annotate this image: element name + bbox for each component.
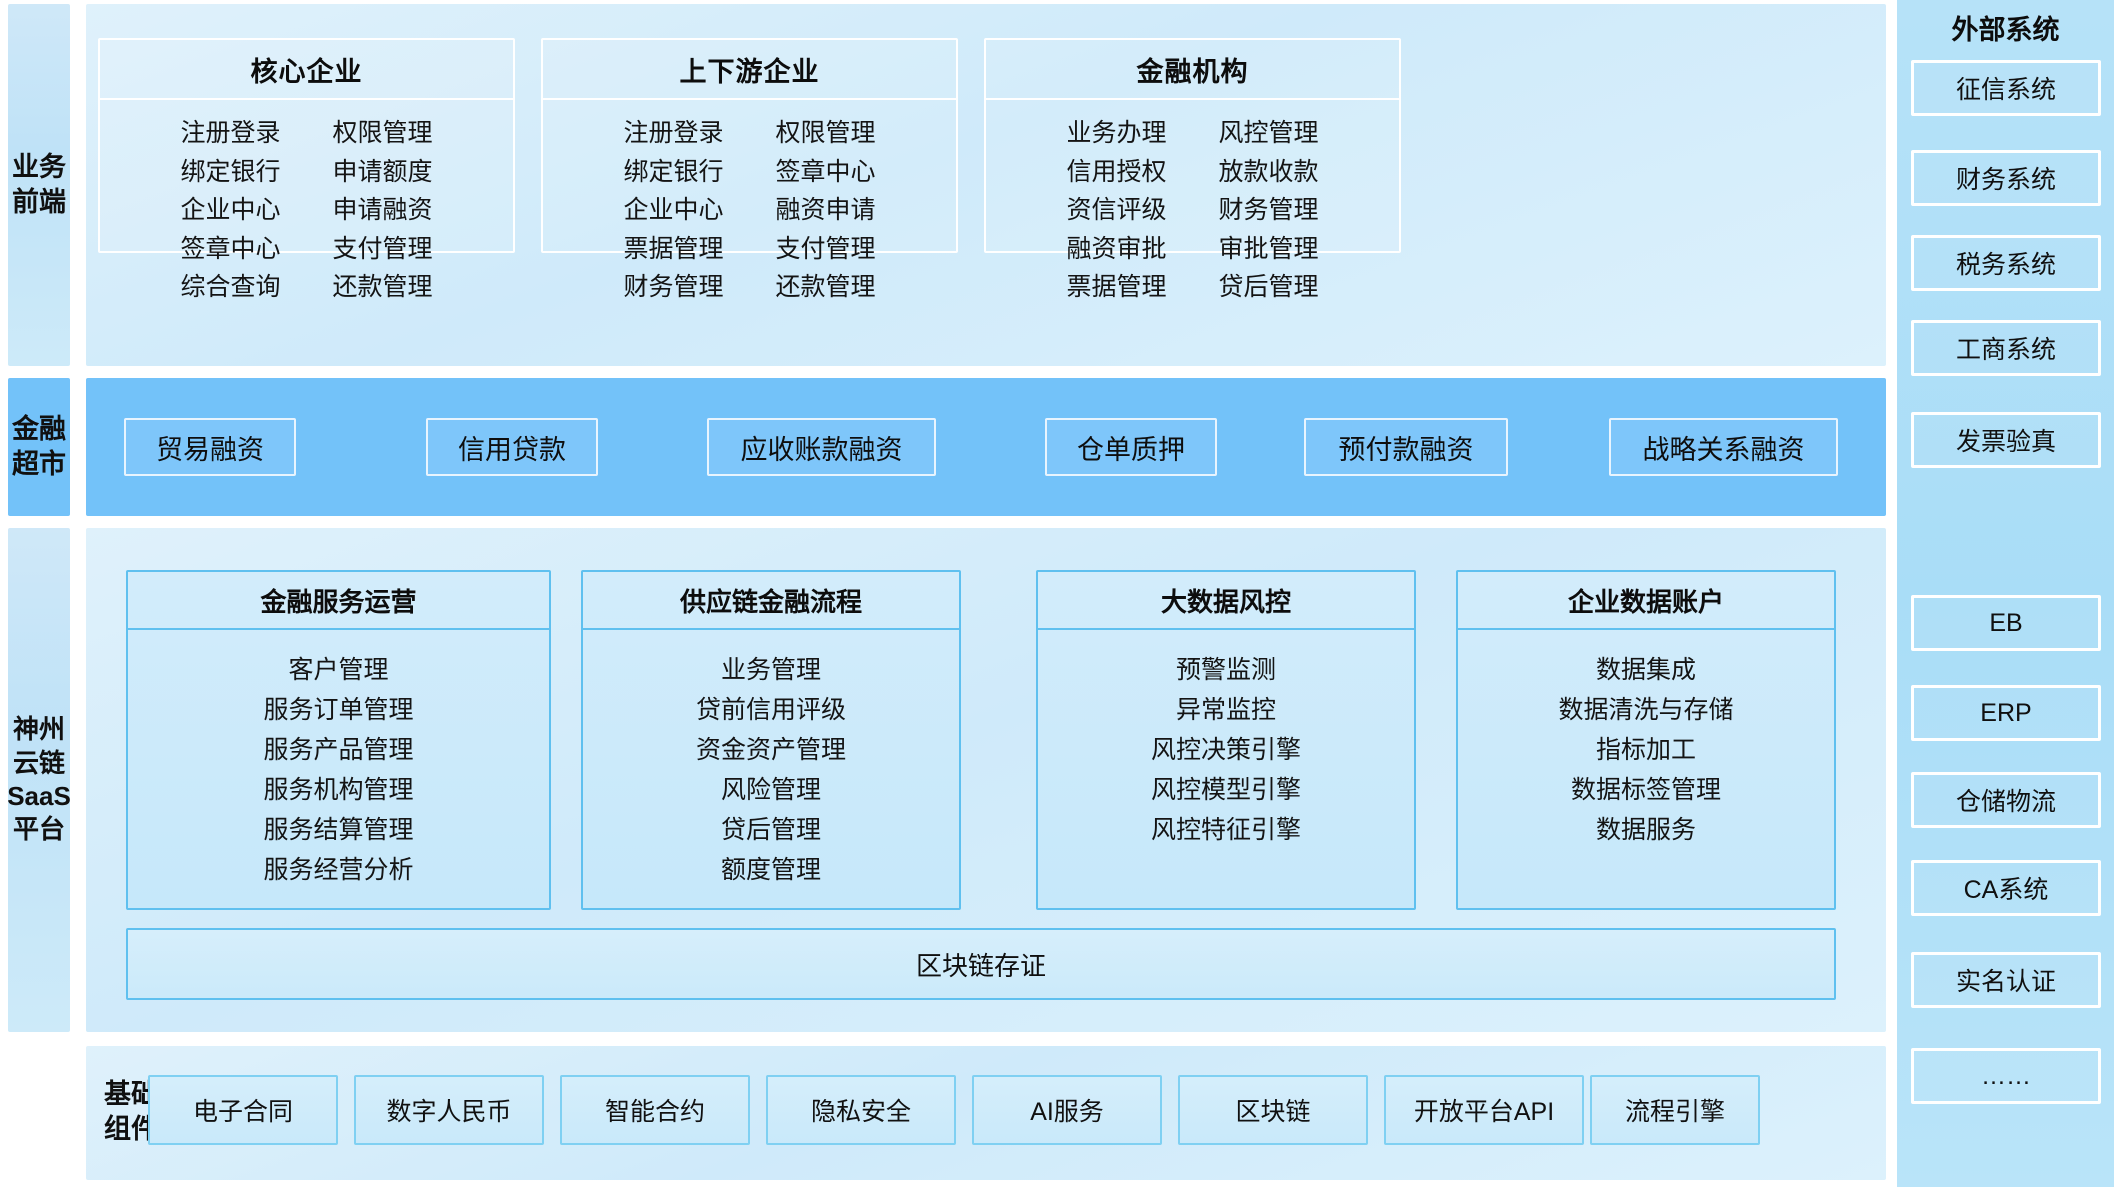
saas-module-item[interactable]: 服务结算管理 (263, 812, 413, 848)
frontend-card-core-enterprise-title: 核心企业 (100, 40, 513, 100)
supermarket-chip-prepayment-finance[interactable]: 预付款融资 (1304, 418, 1508, 476)
saas-module-enterprise-data-account-list: 数据集成 数据清洗与存储 指标加工 数据标签管理 数据服务 (1458, 630, 1834, 848)
frontend-card-upstream-downstream-body: 注册登录 绑定银行 企业中心 票据管理 财务管理 权限管理 签章中心 融资申请 … (543, 100, 956, 306)
external-system-business-registration[interactable]: 工商系统 (1911, 320, 2101, 376)
frontend-item[interactable]: 资信评级 (1066, 193, 1166, 229)
saas-platform-panel: 金融服务运营 客户管理 服务订单管理 服务产品管理 服务机构管理 服务结算管理 … (86, 528, 1886, 1032)
frontend-item[interactable]: 注册登录 (623, 116, 723, 152)
base-component-ai-service[interactable]: AI服务 (972, 1075, 1162, 1145)
base-component-smart-contract[interactable]: 智能合约 (560, 1075, 750, 1145)
row-label-saas-platform-line2: 云链 (7, 747, 71, 780)
saas-module-supply-chain-finance-process-title: 供应链金融流程 (583, 572, 959, 630)
saas-module-enterprise-data-account-title: 企业数据账户 (1458, 572, 1834, 630)
frontend-item[interactable]: 票据管理 (623, 232, 723, 268)
frontend-item[interactable]: 签章中心 (180, 232, 280, 268)
frontend-item[interactable]: 权限管理 (776, 116, 876, 152)
external-system-ca[interactable]: CA系统 (1911, 860, 2101, 916)
base-components-panel: 基础 组件 电子合同 数字人民币 智能合约 隐私安全 AI服务 区块链 开放平台… (86, 1046, 1886, 1180)
frontend-item[interactable]: 企业中心 (180, 193, 280, 229)
saas-blockchain-evidence-bar[interactable]: 区块链存证 (126, 928, 1836, 1000)
frontend-item[interactable]: 还款管理 (776, 270, 876, 306)
external-system-warehouse-logistics[interactable]: 仓储物流 (1911, 772, 2101, 828)
supermarket-chip-strategic-relation-finance[interactable]: 战略关系融资 (1609, 418, 1838, 476)
saas-module-bigdata-risk-control-list: 预警监测 异常监控 风控决策引擎 风控模型引擎 风控特征引擎 (1038, 630, 1414, 848)
frontend-item[interactable]: 申请额度 (333, 155, 433, 191)
frontend-item[interactable]: 贷后管理 (1219, 270, 1319, 306)
saas-module-item[interactable]: 风险管理 (721, 772, 821, 808)
architecture-diagram: 业务 前端 核心企业 注册登录 绑定银行 企业中心 签章中心 综合查询 权限管理… (0, 0, 2114, 1187)
saas-module-item[interactable]: 数据服务 (1596, 812, 1696, 848)
frontend-card-financial-institution-col1: 业务办理 信用授权 资信评级 融资审批 票据管理 (1066, 116, 1166, 306)
frontend-item[interactable]: 票据管理 (1066, 270, 1166, 306)
external-system-eb[interactable]: EB (1911, 595, 2101, 651)
saas-module-supply-chain-finance-process-list: 业务管理 贷前信用评级 资金资产管理 风险管理 贷后管理 额度管理 (583, 630, 959, 888)
saas-module-item[interactable]: 数据标签管理 (1571, 772, 1721, 808)
external-system-invoice-verification[interactable]: 发票验真 (1911, 412, 2101, 468)
frontend-item[interactable]: 融资审批 (1066, 232, 1166, 268)
row-label-business-frontend-line1: 业务 (12, 150, 66, 185)
row-label-saas-platform-line3: SaaS (7, 780, 71, 813)
frontend-item[interactable]: 支付管理 (333, 232, 433, 268)
supermarket-chip-receivables-finance[interactable]: 应收账款融资 (707, 418, 936, 476)
row-label-business-frontend-line2: 前端 (12, 185, 66, 220)
frontend-card-upstream-downstream-col1: 注册登录 绑定银行 企业中心 票据管理 财务管理 (623, 116, 723, 306)
external-system-tax[interactable]: 税务系统 (1911, 235, 2101, 291)
saas-module-item[interactable]: 贷前信用评级 (696, 692, 846, 728)
frontend-card-financial-institution[interactable]: 金融机构 业务办理 信用授权 资信评级 融资审批 票据管理 风控管理 放款收款 … (984, 38, 1401, 253)
base-component-privacy-security[interactable]: 隐私安全 (766, 1075, 956, 1145)
saas-module-item[interactable]: 客户管理 (288, 652, 388, 688)
saas-module-item[interactable]: 服务机构管理 (263, 772, 413, 808)
base-component-open-platform-api[interactable]: 开放平台API (1384, 1075, 1584, 1145)
frontend-item[interactable]: 融资申请 (776, 193, 876, 229)
frontend-item[interactable]: 注册登录 (180, 116, 280, 152)
saas-module-financial-service-operation-title: 金融服务运营 (128, 572, 549, 630)
saas-module-item[interactable]: 数据集成 (1596, 652, 1696, 688)
row-label-finance-supermarket-line2: 超市 (12, 447, 66, 482)
external-systems-panel: 外部系统 征信系统 财务系统 税务系统 工商系统 发票验真 EB ERP 仓储物… (1897, 0, 2114, 1187)
saas-module-bigdata-risk-control[interactable]: 大数据风控 预警监测 异常监控 风控决策引擎 风控模型引擎 风控特征引擎 (1036, 570, 1416, 910)
saas-module-item[interactable]: 服务产品管理 (263, 732, 413, 768)
external-system-credit-reporting[interactable]: 征信系统 (1911, 60, 2101, 116)
external-system-erp[interactable]: ERP (1911, 685, 2101, 741)
frontend-item[interactable]: 申请融资 (333, 193, 433, 229)
frontend-card-financial-institution-title: 金融机构 (986, 40, 1399, 100)
frontend-item[interactable]: 企业中心 (623, 193, 723, 229)
frontend-item[interactable]: 支付管理 (776, 232, 876, 268)
saas-module-item[interactable]: 风控模型引擎 (1151, 772, 1301, 808)
saas-module-item[interactable]: 服务订单管理 (263, 692, 413, 728)
saas-module-item[interactable]: 服务经营分析 (263, 852, 413, 888)
external-system-finance[interactable]: 财务系统 (1911, 150, 2101, 206)
row-label-saas-platform-line1: 神州 (7, 713, 71, 746)
frontend-card-upstream-downstream[interactable]: 上下游企业 注册登录 绑定银行 企业中心 票据管理 财务管理 权限管理 签章中心… (541, 38, 958, 253)
row-label-saas-platform: 神州 云链 SaaS 平台 (8, 528, 70, 1032)
base-component-blockchain[interactable]: 区块链 (1178, 1075, 1368, 1145)
supermarket-chip-warehouse-receipt-pledge[interactable]: 仓单质押 (1045, 418, 1217, 476)
saas-module-item[interactable]: 业务管理 (721, 652, 821, 688)
supermarket-chip-credit-loan[interactable]: 信用贷款 (426, 418, 598, 476)
frontend-item[interactable]: 业务办理 (1066, 116, 1166, 152)
frontend-item[interactable]: 综合查询 (180, 270, 280, 306)
saas-module-item[interactable]: 额度管理 (721, 852, 821, 888)
frontend-card-core-enterprise-body: 注册登录 绑定银行 企业中心 签章中心 综合查询 权限管理 申请额度 申请融资 … (100, 100, 513, 306)
external-systems-title: 外部系统 (1897, 8, 2114, 47)
frontend-item[interactable]: 财务管理 (1219, 193, 1319, 229)
saas-module-financial-service-operation[interactable]: 金融服务运营 客户管理 服务订单管理 服务产品管理 服务机构管理 服务结算管理 … (126, 570, 551, 910)
saas-module-item[interactable]: 指标加工 (1596, 732, 1696, 768)
frontend-item[interactable]: 财务管理 (623, 270, 723, 306)
saas-module-supply-chain-finance-process[interactable]: 供应链金融流程 业务管理 贷前信用评级 资金资产管理 风险管理 贷后管理 额度管… (581, 570, 961, 910)
saas-module-item[interactable]: 预警监测 (1176, 652, 1276, 688)
frontend-card-financial-institution-body: 业务办理 信用授权 资信评级 融资审批 票据管理 风控管理 放款收款 财务管理 … (986, 100, 1399, 306)
external-system-more[interactable]: …… (1911, 1048, 2101, 1104)
frontend-item[interactable]: 权限管理 (333, 116, 433, 152)
frontend-card-core-enterprise[interactable]: 核心企业 注册登录 绑定银行 企业中心 签章中心 综合查询 权限管理 申请额度 … (98, 38, 515, 253)
frontend-card-upstream-downstream-col2: 权限管理 签章中心 融资申请 支付管理 还款管理 (776, 116, 876, 306)
frontend-card-upstream-downstream-title: 上下游企业 (543, 40, 956, 100)
row-label-business-frontend: 业务 前端 (8, 4, 70, 366)
frontend-item[interactable]: 风控管理 (1219, 116, 1319, 152)
frontend-item[interactable]: 还款管理 (333, 270, 433, 306)
saas-module-item[interactable]: 资金资产管理 (696, 732, 846, 768)
saas-module-item[interactable]: 风控特征引擎 (1151, 812, 1301, 848)
saas-module-financial-service-operation-list: 客户管理 服务订单管理 服务产品管理 服务机构管理 服务结算管理 服务经营分析 (128, 630, 549, 888)
frontend-item[interactable]: 放款收款 (1219, 155, 1319, 191)
frontend-item[interactable]: 绑定银行 (623, 155, 723, 191)
row-label-saas-platform-line4: 平台 (7, 813, 71, 846)
supermarket-chip-trade-finance[interactable]: 贸易融资 (124, 418, 296, 476)
saas-module-item[interactable]: 异常监控 (1176, 692, 1276, 728)
saas-module-bigdata-risk-control-title: 大数据风控 (1038, 572, 1414, 630)
frontend-card-core-enterprise-col2: 权限管理 申请额度 申请融资 支付管理 还款管理 (333, 116, 433, 306)
frontend-item[interactable]: 审批管理 (1219, 232, 1319, 268)
saas-module-item[interactable]: 数据清洗与存储 (1558, 692, 1733, 728)
saas-module-item[interactable]: 风控决策引擎 (1151, 732, 1301, 768)
row-label-finance-supermarket: 金融 超市 (8, 378, 70, 516)
frontend-item[interactable]: 绑定银行 (180, 155, 280, 191)
frontend-item[interactable]: 信用授权 (1066, 155, 1166, 191)
saas-module-item[interactable]: 贷后管理 (721, 812, 821, 848)
business-frontend-panel: 核心企业 注册登录 绑定银行 企业中心 签章中心 综合查询 权限管理 申请额度 … (86, 4, 1886, 366)
base-component-electronic-contract[interactable]: 电子合同 (148, 1075, 338, 1145)
base-component-digital-rmb[interactable]: 数字人民币 (354, 1075, 544, 1145)
frontend-card-financial-institution-col2: 风控管理 放款收款 财务管理 审批管理 贷后管理 (1219, 116, 1319, 306)
frontend-item[interactable]: 签章中心 (776, 155, 876, 191)
finance-supermarket-panel: 贸易融资 信用贷款 应收账款融资 仓单质押 预付款融资 战略关系融资 (86, 378, 1886, 516)
external-system-real-name-auth[interactable]: 实名认证 (1911, 952, 2101, 1008)
saas-module-enterprise-data-account[interactable]: 企业数据账户 数据集成 数据清洗与存储 指标加工 数据标签管理 数据服务 (1456, 570, 1836, 910)
frontend-card-core-enterprise-col1: 注册登录 绑定银行 企业中心 签章中心 综合查询 (180, 116, 280, 306)
row-label-finance-supermarket-line1: 金融 (12, 412, 66, 447)
base-component-process-engine[interactable]: 流程引擎 (1590, 1075, 1760, 1145)
